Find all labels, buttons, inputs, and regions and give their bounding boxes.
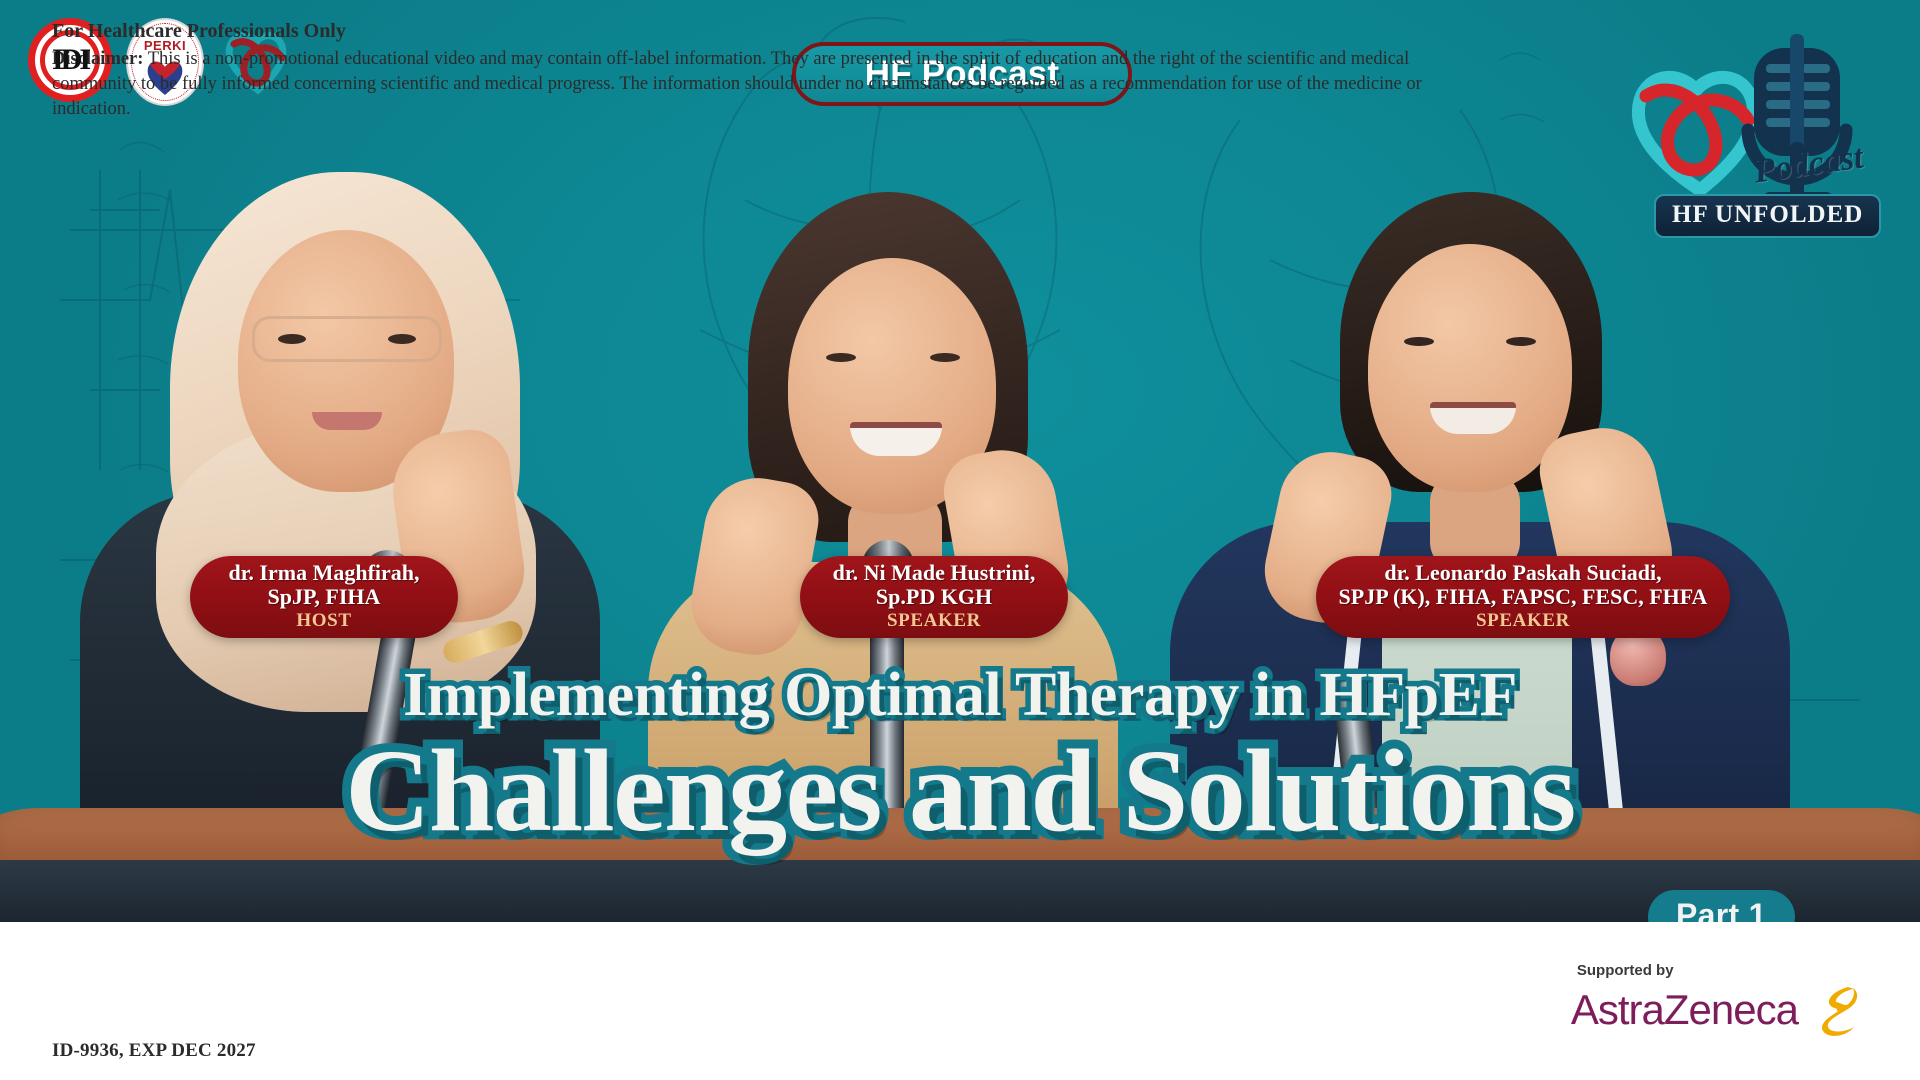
panelist-name-3: dr. Leonardo Paskah Suciadi, SPJP (K), F… <box>1339 561 1708 608</box>
panelist-name-2-line2: Sp.PD KGH <box>876 584 992 609</box>
title-line-1: Implementing Optimal Therapy in HFpEF <box>0 664 1920 726</box>
astrazeneca-logo: AstraZeneca <box>1571 981 1862 1039</box>
main-title-block: Implementing Optimal Therapy in HFpEF Ch… <box>0 664 1920 850</box>
panelist3-smile <box>1430 402 1516 434</box>
panelist3-eye-left <box>1404 337 1434 346</box>
hcp-only-note: For Healthcare Professionals Only <box>52 18 1472 45</box>
panelist-name-1: dr. Irma Maghfirah, SpJP, FIHA <box>228 561 419 608</box>
panelist1-smile <box>312 412 382 430</box>
panelist-name-badge-1: dr. Irma Maghfirah, SpJP, FIHA HOST <box>190 556 458 638</box>
panelist-name-3-line2: SPJP (K), FIHA, FAPSC, FESC, FHFA <box>1339 584 1708 609</box>
disclaimer-paragraph: Disclaimer: This is a non-promotional ed… <box>52 47 1472 122</box>
hf-unfolded-badge: HF UNFOLDED <box>1654 194 1881 238</box>
panelist-name-1-line1: dr. Irma Maghfirah, <box>228 560 419 585</box>
panelist3-face <box>1368 244 1572 492</box>
panelist2-smile <box>850 422 942 456</box>
title-line-2: Challenges and Solutions <box>0 732 1920 850</box>
disclaimer-body: This is a non-promotional educational vi… <box>52 49 1422 119</box>
hf-unfolded-artwork <box>1602 18 1902 218</box>
panelist-name-1-line2: SpJP, FIHA <box>268 584 381 609</box>
astrazeneca-helix-icon <box>1804 981 1862 1039</box>
podcast-thumbnail: IDI PERKI HF Podcast <box>0 0 1920 1080</box>
panelist-name-badge-3: dr. Leonardo Paskah Suciadi, SPJP (K), F… <box>1316 556 1730 638</box>
panelist2-eye-right <box>930 353 960 362</box>
panelist-name-2-line1: dr. Ni Made Hustrini, <box>833 560 1036 585</box>
hf-unfolded-badge-label: HF UNFOLDED <box>1672 201 1863 228</box>
panelist-name-2: dr. Ni Made Hustrini, Sp.PD KGH <box>833 561 1036 608</box>
material-code: ID-9936, EXP DEC 2027 <box>52 1040 256 1062</box>
panelist-name-badge-2: dr. Ni Made Hustrini, Sp.PD KGH SPEAKER <box>800 556 1068 638</box>
panelist3-eye-right <box>1506 337 1536 346</box>
idi-logo-text: IDI <box>52 43 88 77</box>
part-badge: Part 1 <box>1648 890 1795 922</box>
stage-background: IDI PERKI HF Podcast <box>0 0 1920 922</box>
hf-unfolded-logo: Podcast HF UNFOLDED <box>1602 18 1902 238</box>
panelist-role-3: SPEAKER <box>1476 610 1570 632</box>
part-badge-label: Part 1 <box>1676 897 1767 922</box>
desk-front-panel <box>0 860 1920 922</box>
panelist-name-3-line1: dr. Leonardo Paskah Suciadi, <box>1384 560 1661 585</box>
panelist1-eye-right <box>388 334 416 344</box>
panelist-role-1: HOST <box>296 610 351 632</box>
panelist1-eye-left <box>278 334 306 344</box>
sponsor-prefix: Supported by <box>1577 962 1862 979</box>
panelist2-eye-left <box>826 353 856 362</box>
sponsor-block: Supported by AstraZeneca <box>1571 962 1862 1039</box>
footer-text-block: For Healthcare Professionals Only Discla… <box>52 18 1472 122</box>
astrazeneca-wordmark: AstraZeneca <box>1571 986 1798 1034</box>
panelist-role-2: SPEAKER <box>887 610 981 632</box>
